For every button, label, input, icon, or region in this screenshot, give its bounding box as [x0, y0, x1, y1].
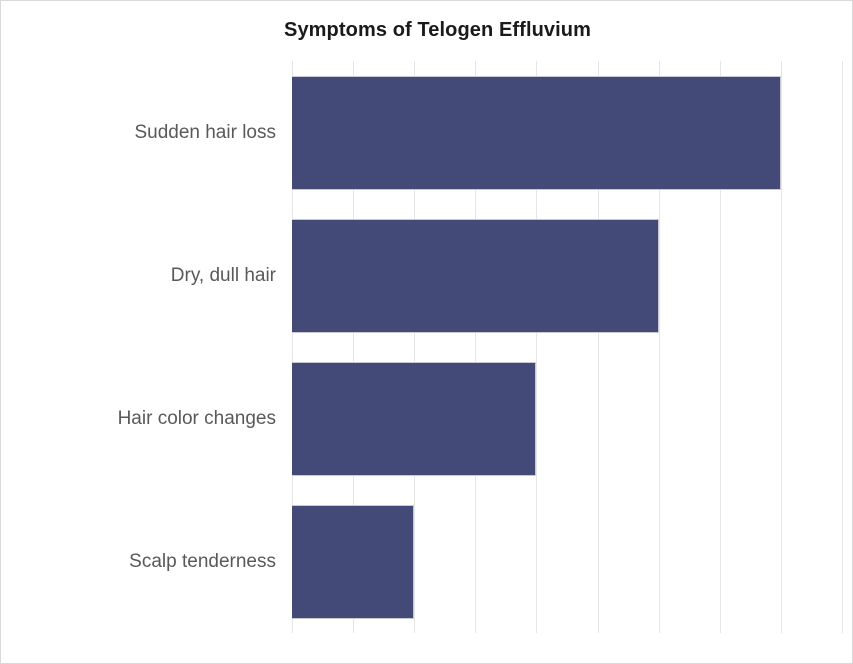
y-axis-label: Hair color changes	[118, 409, 276, 428]
chart-title: Symptoms of Telogen Effluvium	[1, 19, 853, 42]
chart-figure: Symptoms of Telogen Effluvium Sudden hai…	[0, 0, 853, 664]
bar	[292, 219, 659, 333]
bar	[292, 76, 781, 190]
y-axis-category-labels: Sudden hair lossDry, dull hairHair color…	[1, 61, 276, 633]
bar-series	[292, 61, 842, 633]
y-axis-label: Dry, dull hair	[171, 266, 276, 285]
gridline	[842, 61, 843, 633]
y-axis-label: Sudden hair loss	[134, 123, 276, 142]
bar	[292, 362, 536, 476]
bar	[292, 505, 414, 619]
plot-area	[292, 61, 842, 633]
y-axis-label: Scalp tenderness	[129, 552, 276, 571]
